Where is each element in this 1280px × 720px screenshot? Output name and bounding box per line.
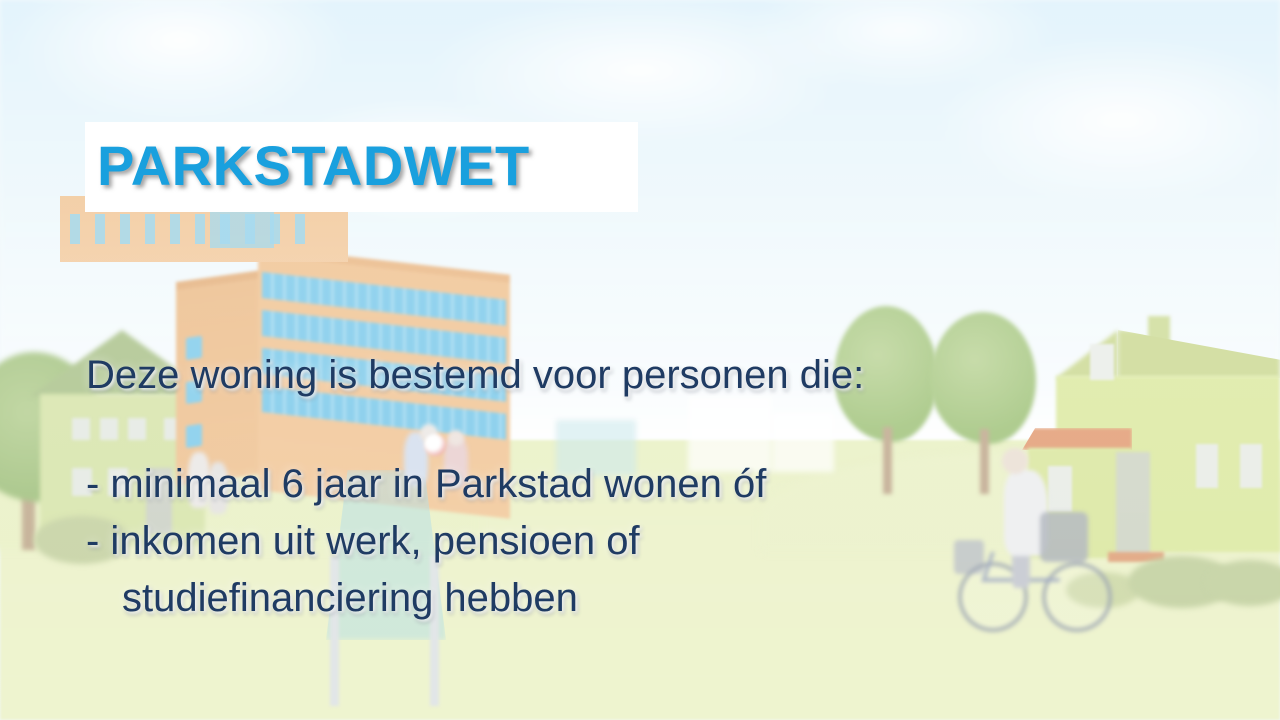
list-item: - inkomen uit werk, pensioen of [86, 513, 1206, 570]
body-content: Deze woning is bestemd voor personen die… [86, 352, 1206, 626]
window-icon [1240, 444, 1262, 488]
building-ground-windows [70, 214, 320, 244]
page-title: PARKSTADWET [97, 133, 530, 198]
lead-sentence: Deze woning is bestemd voor personen die… [86, 352, 1206, 398]
slide-canvas: PARKSTADWET Deze woning is bestemd voor … [0, 0, 1280, 720]
list-item: studiefinanciering hebben [86, 570, 1206, 627]
list-item: - minimaal 6 jaar in Parkstad wonen óf [86, 456, 1206, 513]
bullet-list: - minimaal 6 jaar in Parkstad wonen óf -… [86, 456, 1206, 626]
